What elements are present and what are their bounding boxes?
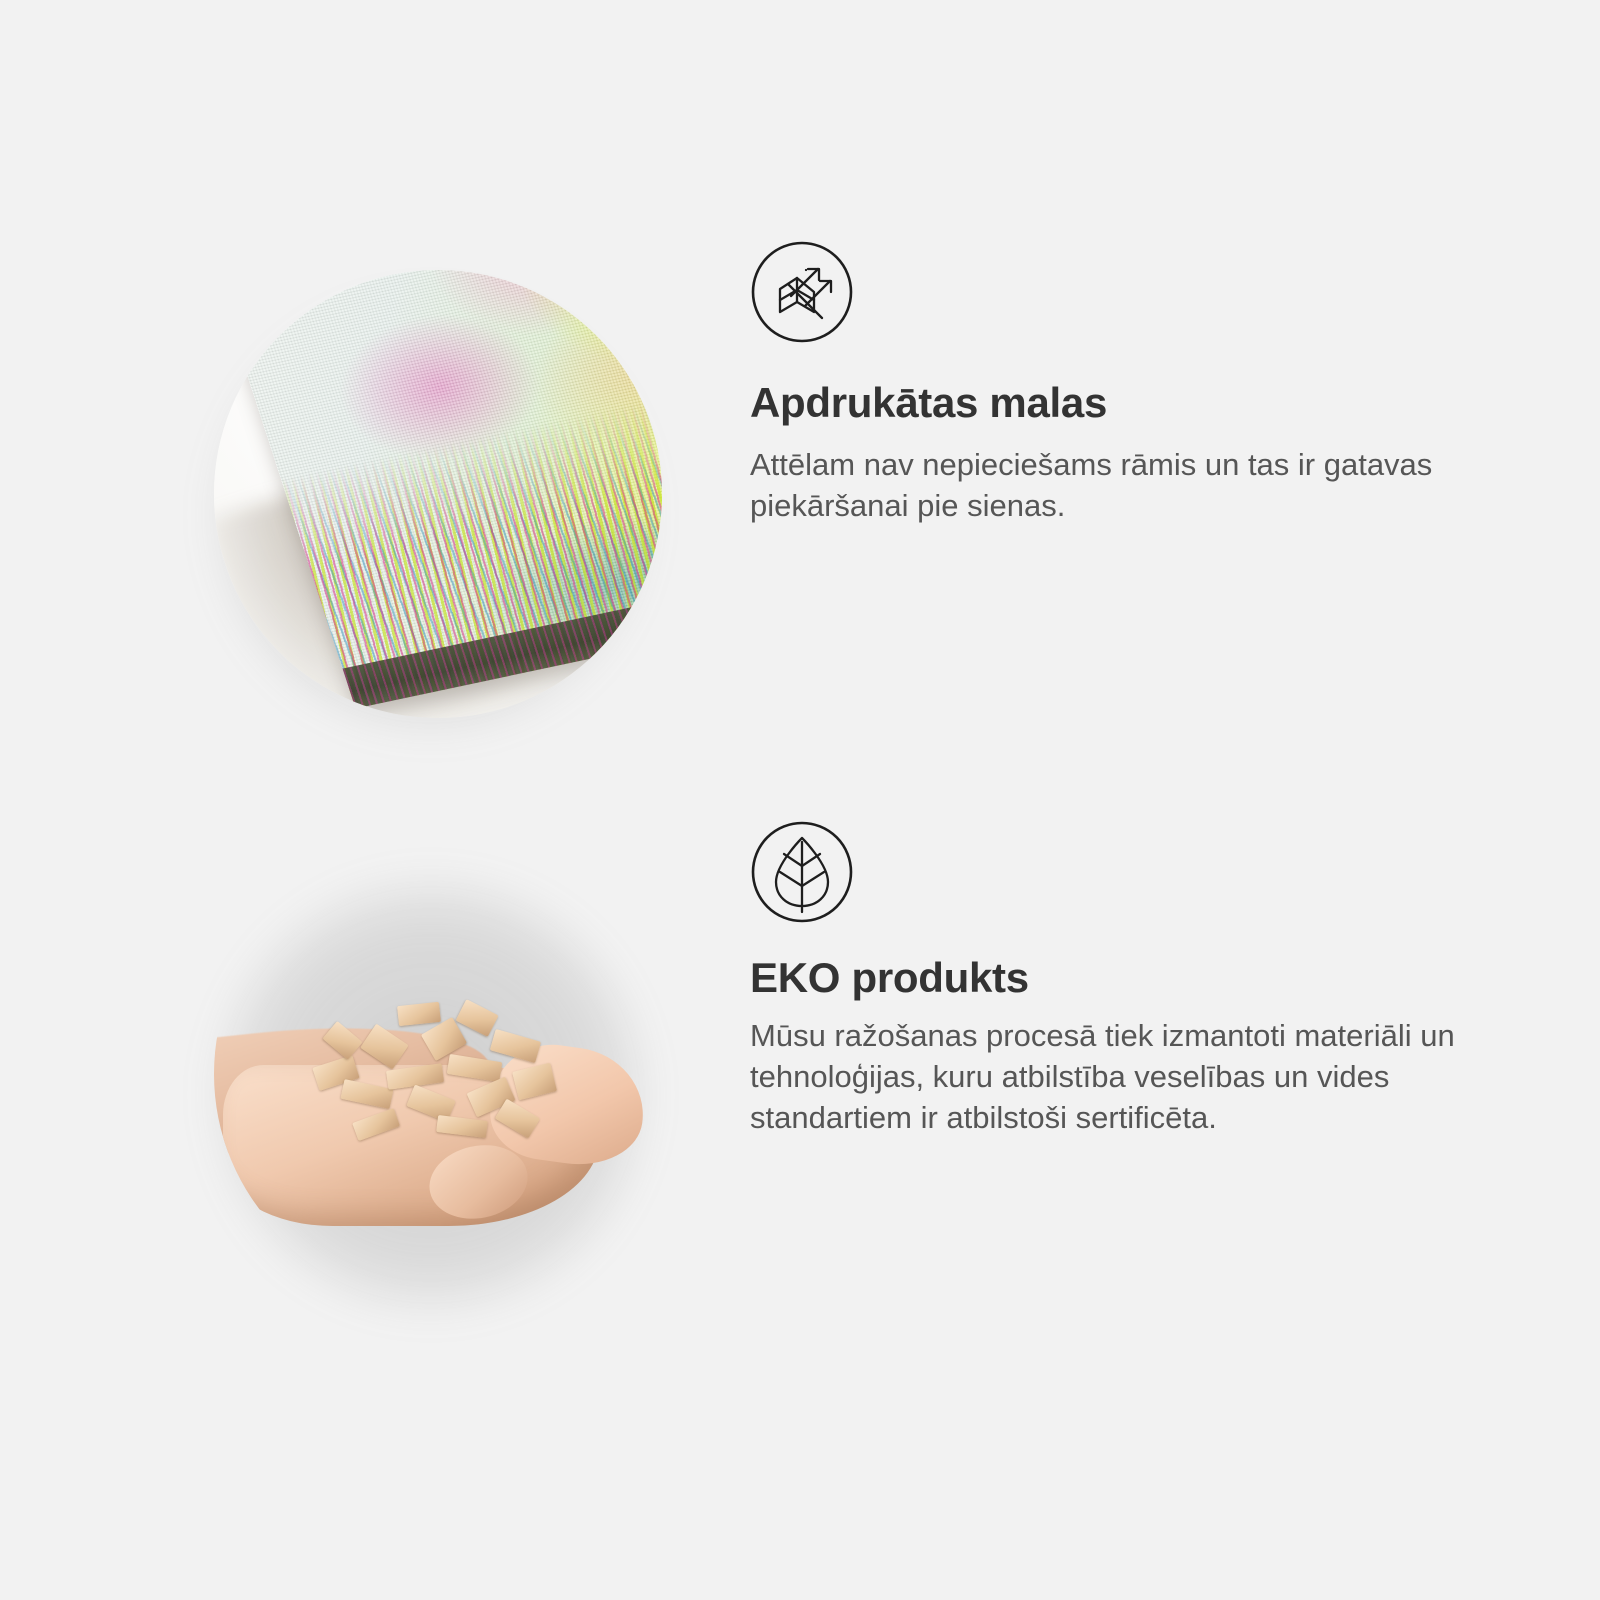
canvas-print-corner-photo bbox=[200, 260, 680, 740]
feature-title: Apdrukātas malas bbox=[750, 379, 1490, 426]
feature-block-eco-product: EKO produkts Mūsu ražošanas procesā tiek… bbox=[0, 820, 1600, 1400]
feature-title: EKO produkts bbox=[750, 954, 1490, 1001]
product-features-panel: Apdrukātas malas Attēlam nav nepieciešam… bbox=[0, 0, 1600, 1600]
printed-edges-icon bbox=[750, 240, 854, 344]
circular-photo-frame bbox=[214, 850, 662, 1298]
feature-description: Attēlam nav nepieciešams rāmis un tas ir… bbox=[750, 444, 1460, 526]
leaf-icon bbox=[750, 820, 854, 924]
feature-description: Mūsu ražošanas procesā tiek izmantoti ma… bbox=[750, 1015, 1460, 1139]
hands-holding-wood-chips-photo bbox=[200, 840, 680, 1320]
green-bokeh-background bbox=[214, 850, 662, 1298]
wood-chip-pile bbox=[304, 998, 582, 1141]
circular-photo-frame bbox=[214, 270, 662, 718]
canvas-scene bbox=[214, 270, 662, 718]
feature-text-column-2: EKO produkts Mūsu ražošanas procesā tiek… bbox=[750, 820, 1490, 1139]
feature-text-column-1: Apdrukātas malas Attēlam nav nepieciešam… bbox=[750, 240, 1490, 526]
feature-block-printed-edges: Apdrukātas malas Attēlam nav nepieciešam… bbox=[0, 240, 1600, 780]
